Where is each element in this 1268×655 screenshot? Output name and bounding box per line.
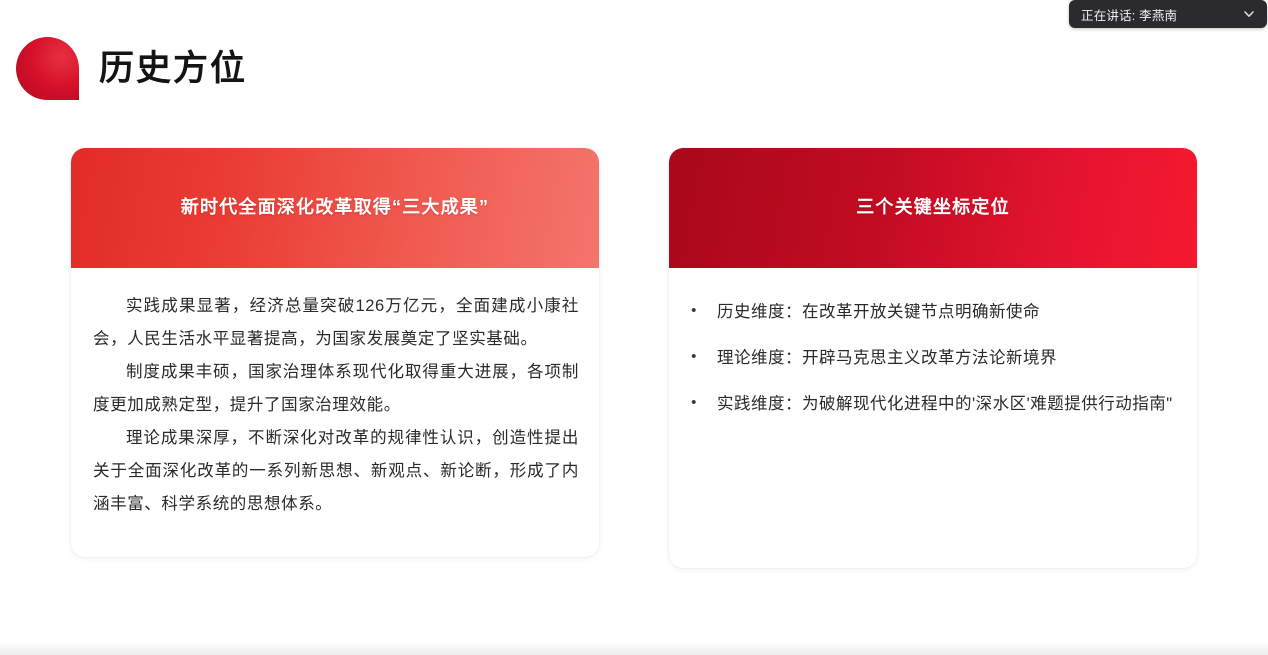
column-left: 新时代全面深化改革取得“三大成果” 实践成果显著，经济总量突破126万亿元，全面… <box>71 148 599 568</box>
list-item: • 实践维度：为破解现代化进程中的'深水区'难题提供行动指南" <box>687 388 1175 422</box>
bullet-dot-icon: • <box>687 296 701 327</box>
list-item: • 理论维度：开辟马克思主义改革方法论新境界 <box>687 342 1175 376</box>
card-title: 新时代全面深化改革取得“三大成果” <box>181 195 489 220</box>
card-achievements: 新时代全面深化改革取得“三大成果” 实践成果显著，经济总量突破126万亿元，全面… <box>71 148 599 557</box>
bullet-dot-icon: • <box>687 342 701 373</box>
page-bottom-edge <box>0 642 1268 655</box>
bullet-list: • 历史维度：在改革开放关键节点明确新使命 • 理论维度：开辟马克思主义改革方法… <box>687 296 1175 421</box>
list-item-label: 历史维度：在改革开放关键节点明确新使命 <box>717 296 1175 330</box>
bullet-dot-icon: • <box>687 388 701 419</box>
content-columns: 新时代全面深化改革取得“三大成果” 实践成果显著，经济总量突破126万亿元，全面… <box>0 148 1268 568</box>
slide-page: 正在讲话: 李燕南 历史方位 新时代全面深化改革取得“三大成果” 实践成果显著，… <box>0 0 1268 655</box>
paragraph: 理论成果深厚，不断深化对改革的规律性认识，创造性提出关于全面深化改革的一系列新思… <box>93 422 579 521</box>
list-item: • 历史维度：在改革开放关键节点明确新使命 <box>687 296 1175 330</box>
slide-title-row: 历史方位 <box>16 37 247 100</box>
card-body-coordinates: • 历史维度：在改革开放关键节点明确新使命 • 理论维度：开辟马克思主义改革方法… <box>669 268 1197 568</box>
current-speaker-label: 正在讲话: 李燕南 <box>1081 5 1241 24</box>
paragraph: 制度成果丰硕，国家治理体系现代化取得重大进展，各项制度更加成熟定型，提升了国家治… <box>93 356 579 422</box>
card-body-achievements: 实践成果显著，经济总量突破126万亿元，全面建成小康社会，人民生活水平显著提高，… <box>71 268 599 557</box>
card-header-achievements: 新时代全面深化改革取得“三大成果” <box>71 148 599 268</box>
column-right: 三个关键坐标定位 • 历史维度：在改革开放关键节点明确新使命 • 理论维度：开辟… <box>669 148 1197 568</box>
paragraph: 实践成果显著，经济总量突破126万亿元，全面建成小康社会，人民生活水平显著提高，… <box>93 290 579 356</box>
chevron-down-icon[interactable] <box>1241 6 1257 22</box>
card-title: 三个关键坐标定位 <box>856 195 1010 220</box>
current-speaker-dropdown[interactable]: 正在讲话: 李燕南 <box>1069 0 1267 28</box>
card-coordinates: 三个关键坐标定位 • 历史维度：在改革开放关键节点明确新使命 • 理论维度：开辟… <box>669 148 1197 568</box>
page-title: 历史方位 <box>99 51 247 86</box>
list-item-label: 理论维度：开辟马克思主义改革方法论新境界 <box>717 342 1175 376</box>
list-item-label: 实践维度：为破解现代化进程中的'深水区'难题提供行动指南" <box>717 388 1175 422</box>
red-teardrop-logo-icon <box>16 37 79 100</box>
card-header-coordinates: 三个关键坐标定位 <box>669 148 1197 268</box>
